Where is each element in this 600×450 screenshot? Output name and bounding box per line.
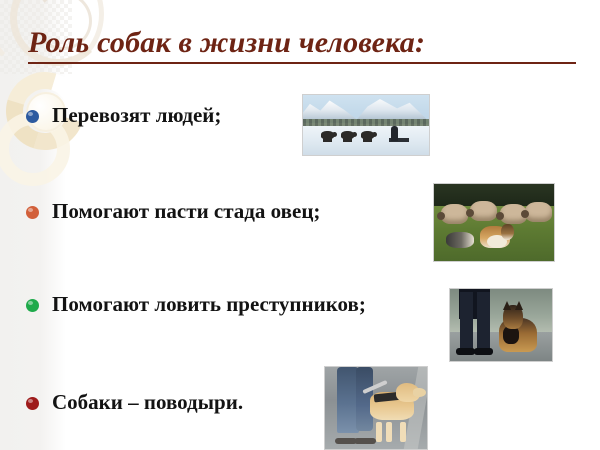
slide-title-block: Роль собак в жизни человека: xyxy=(28,26,584,70)
page-title: Роль собак в жизни человека: xyxy=(28,26,584,60)
list-item-label: Помогают пасти стада овец; xyxy=(52,199,320,223)
presentation-slide: Роль собак в жизни человека: xyxy=(0,0,600,450)
list-item-label: Перевозят людей; xyxy=(52,103,221,127)
list-item: Перевозят людей; xyxy=(26,103,221,127)
list-item-label: Собаки – поводыри. xyxy=(52,390,243,414)
bullet-dot-red xyxy=(26,397,39,410)
bullet-dot-blue xyxy=(26,110,39,123)
image-collie-and-sheep xyxy=(433,183,555,262)
list-item: Помогают пасти стада овец; xyxy=(26,199,320,223)
image-guide-dog xyxy=(324,366,428,450)
list-item-label: Помогают ловить преступников; xyxy=(52,292,366,316)
list-item: Собаки – поводыри. xyxy=(26,390,243,414)
image-police-dog xyxy=(449,288,553,362)
title-underline xyxy=(28,62,576,64)
bullet-dot-green xyxy=(26,299,39,312)
image-sled-dogs xyxy=(302,94,430,156)
bullet-dot-orange xyxy=(26,206,39,219)
list-item: Помогают ловить преступников; xyxy=(26,292,366,316)
